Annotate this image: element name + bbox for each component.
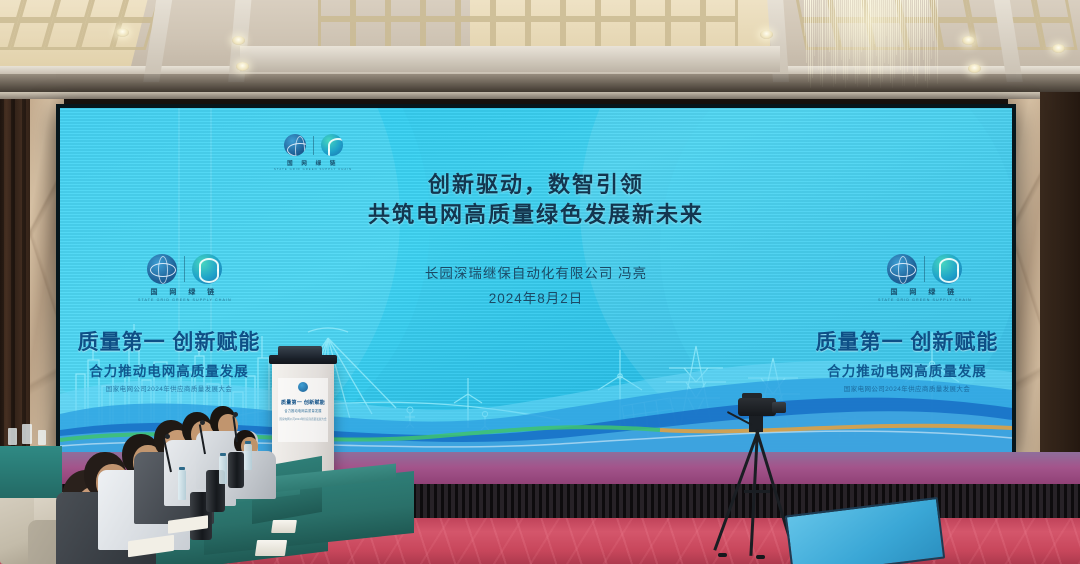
screen-logo-right: 国 网 绿 链 STATE GRID GREEN SUPPLY CHAIN xyxy=(878,254,972,302)
tripod-foot-center xyxy=(756,555,765,559)
mic-head-1 xyxy=(165,434,170,439)
chandelier-crystal-strand xyxy=(835,0,836,84)
chandelier-crystal-strand xyxy=(837,0,838,66)
chandelier-crystal-strand xyxy=(931,0,932,59)
green-chain-s-icon xyxy=(192,254,222,284)
chandelier-crystal-strand xyxy=(812,0,813,78)
chandelier-crystal-strand xyxy=(884,0,885,63)
chandelier-crystal-strand xyxy=(841,0,842,60)
banner-right-line1: 质量第一 创新赋能 xyxy=(812,326,1002,356)
chandelier-crystal-strand xyxy=(859,0,860,75)
chandelier-crystal-strand xyxy=(898,0,899,45)
podium-panel-subtitle: 合力推动电网高质量发展 xyxy=(284,408,321,413)
chandelier-crystal-strand xyxy=(886,0,887,36)
lattice-cell xyxy=(353,0,388,19)
ceiling-soffit xyxy=(240,46,780,72)
chandelier-crystal-strand xyxy=(894,0,895,78)
lattice-cell xyxy=(936,20,976,50)
chandelier-crystal-strand xyxy=(911,0,912,53)
state-grid-globe-icon xyxy=(147,254,177,284)
lattice-cell xyxy=(388,0,423,19)
chandelier-crystal-strand xyxy=(878,0,879,78)
chandelier-crystal-strand xyxy=(861,0,862,52)
conference-photo: 国 网 绿 链 STATE GRID GREEN SUPPLY CHAIN 国 … xyxy=(0,0,1080,564)
mic-head-2 xyxy=(200,420,205,425)
chandelier-crystal-strand xyxy=(855,0,856,84)
podium-logo-icon xyxy=(298,382,308,392)
chandelier-crystal-strand xyxy=(863,0,864,48)
chandelier-crystal-strand xyxy=(808,0,809,82)
mic-head-3 xyxy=(233,412,238,417)
water-bottle-1 xyxy=(244,444,252,470)
banner-left-line1: 质量第一 创新赋能 xyxy=(74,326,264,356)
chandelier-crystal-strand xyxy=(827,0,828,48)
chandelier-crystal-strand xyxy=(923,0,924,60)
water-bottle-2 xyxy=(219,456,227,484)
camera-lens xyxy=(772,402,786,413)
glass-2 xyxy=(22,424,32,444)
chandelier-crystal-strand xyxy=(818,0,819,70)
lattice-cell xyxy=(703,0,738,19)
chandelier-crystal-strand xyxy=(890,0,891,83)
chandelier-crystal-strand xyxy=(933,0,934,41)
ceiling-downlight-3 xyxy=(962,36,975,45)
chandelier-crystal-strand xyxy=(829,0,830,52)
logo-name-en: STATE GRID GREEN SUPPLY CHAIN xyxy=(274,168,352,171)
chandelier-crystal-strand xyxy=(935,0,936,67)
lattice-cell xyxy=(528,0,563,19)
video-camera-icon xyxy=(738,398,776,416)
logo-row xyxy=(887,254,962,284)
chandelier-crystal-strand xyxy=(900,0,901,70)
laptop-device xyxy=(278,346,322,358)
lattice-cell xyxy=(318,0,353,19)
ceiling-downlight-7 xyxy=(1052,44,1065,53)
podium-branding-panel: 质量第一 创新赋能 合力推动电网高质量发展 国家电网公司2024年供应商质量发展… xyxy=(278,378,328,442)
chandelier-crystal-strand xyxy=(804,0,805,36)
bottle-cap-2 xyxy=(220,453,226,456)
bottle-cap-1 xyxy=(245,441,251,444)
table-nameplate-2 xyxy=(271,520,297,533)
chandelier-crystal-strand xyxy=(814,0,815,56)
chandelier-crystal-strand xyxy=(870,0,871,85)
podium-panel-title: 质量第一 创新赋能 xyxy=(281,399,325,406)
tripod-foot-left xyxy=(718,553,727,557)
led-screen-frame: 国 网 绿 链 STATE GRID GREEN SUPPLY CHAIN 国 … xyxy=(56,104,1016,456)
logo-name-cn: 国 网 绿 链 xyxy=(890,287,959,297)
logo-divider xyxy=(313,136,314,155)
state-grid-globe-icon xyxy=(887,254,917,284)
banner-left: 质量第一 创新赋能 合力推动电网高质量发展 国家电网公司2024年供应商质量发展… xyxy=(74,326,264,393)
banner-left-line3: 国家电网公司2024年供应商质量发展大会 xyxy=(74,383,264,393)
ceiling-lattice-left xyxy=(0,0,163,52)
logo-row xyxy=(147,254,222,284)
lattice-cell xyxy=(633,0,668,19)
chandelier-crystal-strand xyxy=(876,0,877,56)
logo-name-cn: 国 网 绿 链 xyxy=(150,287,219,297)
ceiling-downlight-5 xyxy=(116,28,129,37)
bottle-cap-3 xyxy=(179,467,185,470)
chandelier-crystal-strand xyxy=(816,0,817,44)
lattice-cell xyxy=(1032,0,1072,20)
chandelier-crystal-strand xyxy=(843,0,844,80)
chandelier-crystal-strand xyxy=(919,0,920,66)
chandelier-crystal-strand xyxy=(907,0,908,72)
ceiling-downlight-6 xyxy=(760,30,773,39)
lattice-cell xyxy=(493,0,528,19)
chandelier-crystal-strand xyxy=(929,0,930,80)
title-line-2: 共筑电网高质量绿色发展新未来 xyxy=(60,200,1012,230)
logo-name-en: STATE GRID GREEN SUPPLY CHAIN xyxy=(878,298,972,302)
glass-3 xyxy=(38,430,46,445)
ceiling xyxy=(0,0,1080,96)
screen-logo-left: 国 网 绿 链 STATE GRID GREEN SUPPLY CHAIN xyxy=(138,254,232,302)
chandelier-crystal-strand xyxy=(917,0,918,84)
chandelier-crystal-strand xyxy=(896,0,897,55)
side-table xyxy=(0,446,62,498)
ceiling-downlight-4 xyxy=(968,64,981,73)
vacuum-flask-3 xyxy=(228,452,244,488)
chandelier-crystal-strand xyxy=(806,0,807,63)
chandelier-crystal-strand xyxy=(839,0,840,40)
chandelier-crystal-strand xyxy=(851,0,852,40)
chandelier-crystal-strand xyxy=(825,0,826,73)
tripod-spreader xyxy=(744,490,770,493)
podium-panel-footnote: 国家电网公司2024年供应商质量发展大会 xyxy=(279,417,326,421)
ceiling-downlight-2 xyxy=(236,62,249,71)
chandelier-crystal-strand xyxy=(874,0,875,44)
banner-right-line2: 合力推动电网高质量发展 xyxy=(812,360,1002,380)
banner-right-line3: 国家电网公司2024年供应商质量发展大会 xyxy=(812,383,1002,393)
chandelier-crystal-strand xyxy=(921,0,922,39)
chandelier-crystal-strand xyxy=(820,0,821,85)
chandelier-crystal-strand xyxy=(872,0,873,69)
lattice-cell xyxy=(423,0,458,19)
banner-left-line2: 合力推动电网高质量发展 xyxy=(74,360,264,380)
water-bottle-3 xyxy=(178,470,186,500)
lattice-cell xyxy=(668,0,703,19)
banner-right: 质量第一 创新赋能 合力推动电网高质量发展 国家电网公司2024年供应商质量发展… xyxy=(812,326,1002,393)
chandelier-crystal-strand xyxy=(909,0,910,48)
lattice-cell xyxy=(458,0,493,19)
green-chain-s-icon xyxy=(321,134,343,156)
screen-logo-top: 国 网 绿 链 STATE GRID GREEN SUPPLY CHAIN xyxy=(274,134,352,171)
logo-divider xyxy=(924,256,925,282)
chandelier-crystal-strand xyxy=(937,0,938,84)
ceiling-downlight-1 xyxy=(232,36,245,45)
chandelier-crystal-strand xyxy=(902,0,903,86)
lattice-cell xyxy=(598,0,633,19)
title-line-1: 创新驱动，数智引领 xyxy=(60,170,1012,200)
chandelier-crystal-strand xyxy=(925,0,926,81)
logo-row xyxy=(284,134,343,156)
glass-1 xyxy=(8,428,17,445)
led-screen: 国 网 绿 链 STATE GRID GREEN SUPPLY CHAIN 国 … xyxy=(60,108,1012,452)
logo-name-en: STATE GRID GREEN SUPPLY CHAIN xyxy=(138,298,232,302)
curtain-rail xyxy=(0,92,1080,99)
chandelier-crystal-strand xyxy=(853,0,854,67)
chandelier-crystal-strand xyxy=(888,0,889,64)
chandelier-crystal-strand xyxy=(866,0,867,73)
lattice-cell xyxy=(563,0,598,19)
logo-name-cn: 国 网 绿 链 xyxy=(287,159,339,167)
table-nameplate-1 xyxy=(255,540,287,556)
state-grid-globe-icon xyxy=(284,134,306,156)
chandelier-crystal-strand xyxy=(831,0,832,76)
logo-divider xyxy=(184,256,185,282)
chandelier-crystal-strand xyxy=(849,0,850,59)
chandelier-crystal-strand xyxy=(847,0,848,80)
chandelier-crystal-strand xyxy=(882,0,883,82)
chandelier-crystal-strand xyxy=(913,0,914,76)
green-chain-s-icon xyxy=(932,254,962,284)
